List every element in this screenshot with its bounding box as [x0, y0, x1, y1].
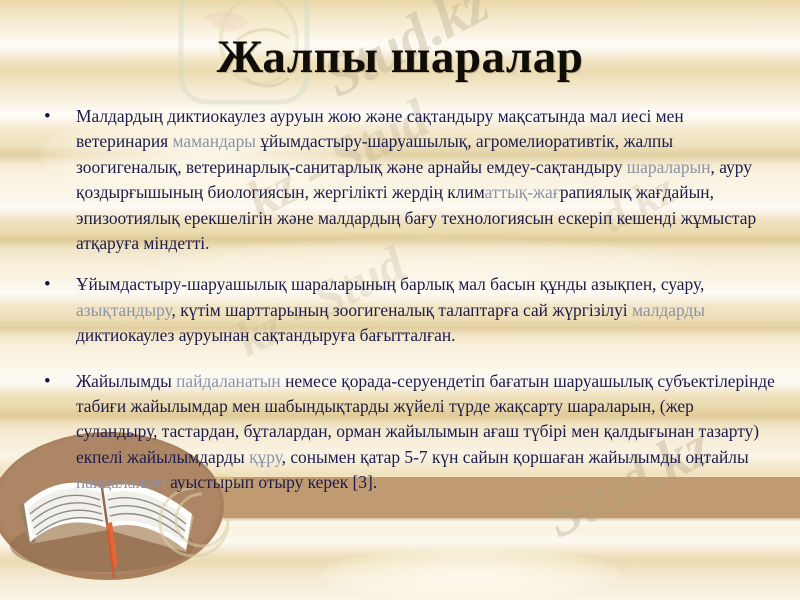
text-run: Жайылымды — [76, 371, 176, 391]
bullet-paragraph-1: • Малдардың диктиокаулез ауруын жою және… — [38, 104, 778, 256]
bullet-marker-3: • — [38, 369, 76, 394]
text-run: ауыстырып отыру керек [3]. — [166, 472, 377, 492]
paragraph-text-3: Жайылымды пайдаланатын немесе қорада-сер… — [76, 369, 778, 496]
highlighted-text-run: пайдаланатын — [176, 371, 281, 391]
slide-body: • Малдардың диктиокаулез ауруын жою және… — [38, 104, 778, 511]
bullet-marker-2: • — [38, 272, 76, 297]
text-run: , сонымен қатар 5-7 күн сайын қоршаған ж… — [282, 447, 749, 467]
text-run: зоогигеналық талаптарға сай жүргізілуі — [329, 300, 632, 320]
highlighted-text-run: азықтандыру — [76, 300, 172, 320]
text-run: Ұйымдастыру-шаруашылық шараларының барлы… — [76, 274, 704, 294]
highlighted-text-run: пайдаланып — [76, 472, 166, 492]
presentation-slide: Stud.kz kz - Stud kz - Stud d.kz — [0, 0, 800, 600]
bullet-paragraph-3: • Жайылымды пайдаланатын немесе қорада-с… — [38, 369, 778, 496]
paragraph-text-1: Малдардың диктиокаулез ауруын жою және с… — [76, 104, 778, 256]
highlighted-text-run: құру — [249, 447, 282, 467]
highlighted-text-run: шараларын — [627, 157, 711, 177]
highlighted-text-run: аттық-жағ — [485, 182, 560, 202]
page-title: Жалпы шаралар — [0, 30, 800, 84]
text-run: , күтім шарттарының — [172, 300, 329, 320]
highlighted-text-run: малдарды — [632, 300, 705, 320]
bullet-marker-1: • — [38, 104, 76, 129]
bullet-paragraph-2: • Ұйымдастыру-шаруашылық шараларының бар… — [38, 272, 778, 348]
paragraph-text-2: Ұйымдастыру-шаруашылық шараларының барлы… — [76, 272, 778, 348]
highlighted-text-run: мамандары — [173, 131, 256, 151]
text-run: диктиокаулез ауруынан сақтандыруға бағыт… — [76, 325, 456, 345]
